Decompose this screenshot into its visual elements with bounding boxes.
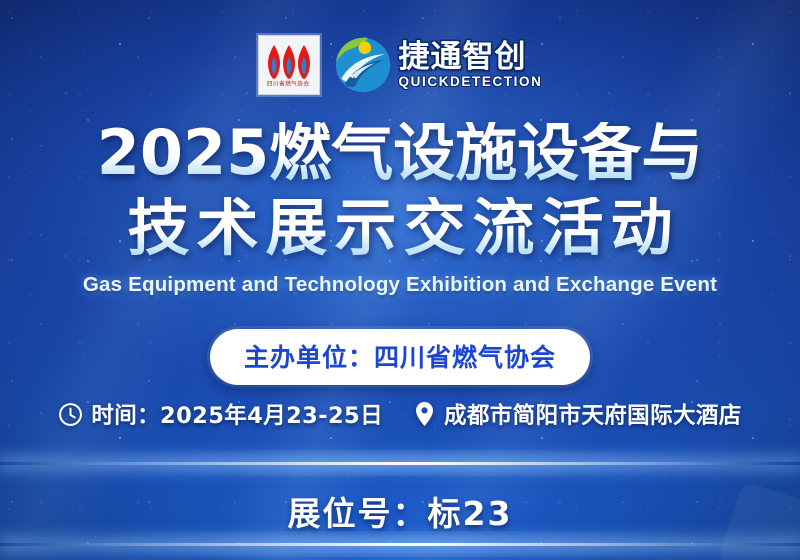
brand-name-cn: 捷通智创 (399, 42, 543, 73)
headline-subtitle-english: Gas Equipment and Technology Exhibition … (0, 273, 800, 297)
brand-name-en: QUICKDETECTION (399, 75, 543, 89)
event-meta-row: 时间：2025年4月23-25日 成都市简阳市天府国际大酒店 (0, 398, 800, 430)
quickdetection-logo: 捷通智创 QUICKDETECTION (334, 37, 543, 93)
organizer-pill: 主办单位：四川省燃气协会 (210, 329, 590, 385)
event-time-item: 时间：2025年4月23-25日 (58, 398, 383, 430)
organizer-label: 主办单位：四川省燃气协会 (244, 338, 556, 374)
light-beam-bottom (0, 543, 800, 546)
organizer-pill-wrapper: 主办单位：四川省燃气协会 (0, 329, 800, 385)
headline-line-2: 技术展示交流活动 (0, 197, 800, 259)
booth-band: 展位号：标23 (0, 440, 800, 560)
headline-block: 2025燃气设施设备与 技术展示交流活动 Gas Equipment and T… (0, 122, 800, 297)
headline-line-1: 2025燃气设施设备与 (0, 122, 800, 184)
booth-number-block: 展位号：标23 (0, 487, 800, 535)
event-time-text: 时间：2025年4月23-25日 (91, 398, 383, 430)
sichuan-gas-association-logo: 四川省燃气协会 (258, 35, 320, 95)
event-poster: 四川省燃气协会 捷通智创 QUICKDETECTION 2025燃气设施设备与 (0, 0, 800, 560)
association-caption: 四川省燃气协会 (267, 80, 310, 88)
logo-row: 四川省燃气协会 捷通智创 QUICKDETECTION (0, 34, 800, 96)
light-beam-top (0, 462, 800, 465)
location-pin-icon (413, 401, 436, 427)
booth-number-label: 展位号：标23 (288, 494, 513, 533)
flame-icon (267, 45, 311, 79)
event-venue-text: 成都市简阳市天府国际大酒店 (444, 398, 742, 430)
event-venue-item: 成都市简阳市天府国际大酒店 (413, 398, 742, 430)
clock-icon (58, 402, 83, 427)
quickdetection-mark-icon (334, 37, 392, 93)
brand-text: 捷通智创 QUICKDETECTION (399, 42, 543, 89)
